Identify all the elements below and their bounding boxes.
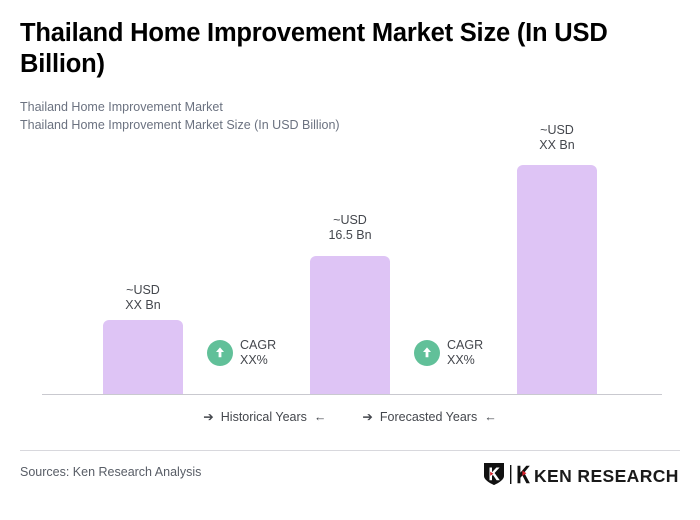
bar-value-label-historical: ~USD XX Bn [103, 283, 183, 312]
bar-value-label-forecast-line1: ~USD [517, 123, 597, 138]
footer-divider [20, 450, 680, 451]
bar-value-label-base-year-line2: 16.5 Bn [310, 228, 390, 243]
bar-value-label-forecast-line2: XX Bn [517, 138, 597, 153]
legend-forecasted-years-label: Forecasted Years [380, 410, 477, 424]
chart-plot-area: ~USD XX Bn ~USD 16.5 Bn ~USD XX Bn CAGR … [0, 0, 700, 400]
bar-value-label-base-year-line1: ~USD [310, 213, 390, 228]
chart-page: Thailand Home Improvement Market Size (I… [0, 0, 700, 520]
bar-value-label-historical-line2: XX Bn [103, 298, 183, 313]
cagr-label-2: CAGR XX% [447, 338, 483, 367]
cagr-label-1: CAGR XX% [240, 338, 276, 367]
arrow-up-icon [414, 340, 440, 366]
logo-separator-bar [509, 465, 513, 489]
x-axis-line [42, 394, 662, 395]
ken-research-logo: KEN RESEARCH [483, 462, 679, 491]
cagr-label-2-line1: CAGR [447, 338, 483, 353]
bar-value-label-forecast: ~USD XX Bn [517, 123, 597, 152]
bar-base-year[interactable] [310, 256, 390, 394]
cagr-label-1-line1: CAGR [240, 338, 276, 353]
legend-forecasted-years: ➔ Forecasted Years ← [362, 410, 496, 424]
bar-historical[interactable] [103, 320, 183, 394]
cagr-marker-1: CAGR XX% [207, 338, 276, 367]
arrow-right-icon: ➔ [362, 411, 372, 424]
cagr-marker-2: CAGR XX% [414, 338, 483, 367]
shield-k-logo-icon [483, 462, 505, 491]
legend-historical-years-label: Historical Years [221, 410, 307, 424]
sources-text: Sources: Ken Research Analysis [20, 465, 201, 479]
bar-value-label-historical-line1: ~USD [103, 283, 183, 298]
cagr-label-1-line2: XX% [240, 353, 276, 368]
year-band-legend: ➔ Historical Years ← ➔ Forecasted Years … [0, 410, 700, 424]
arrow-left-icon: ← [314, 411, 327, 424]
logo-k-accent-icon [517, 465, 530, 489]
logo-wordmark: KEN RESEARCH [534, 468, 679, 486]
legend-historical-years: ➔ Historical Years ← [203, 410, 326, 424]
cagr-label-2-line2: XX% [447, 353, 483, 368]
arrow-right-icon: ➔ [203, 411, 213, 424]
bar-forecast[interactable] [517, 165, 597, 394]
arrow-up-icon [207, 340, 233, 366]
bar-value-label-base-year: ~USD 16.5 Bn [310, 213, 390, 242]
arrow-left-icon: ← [484, 411, 497, 424]
